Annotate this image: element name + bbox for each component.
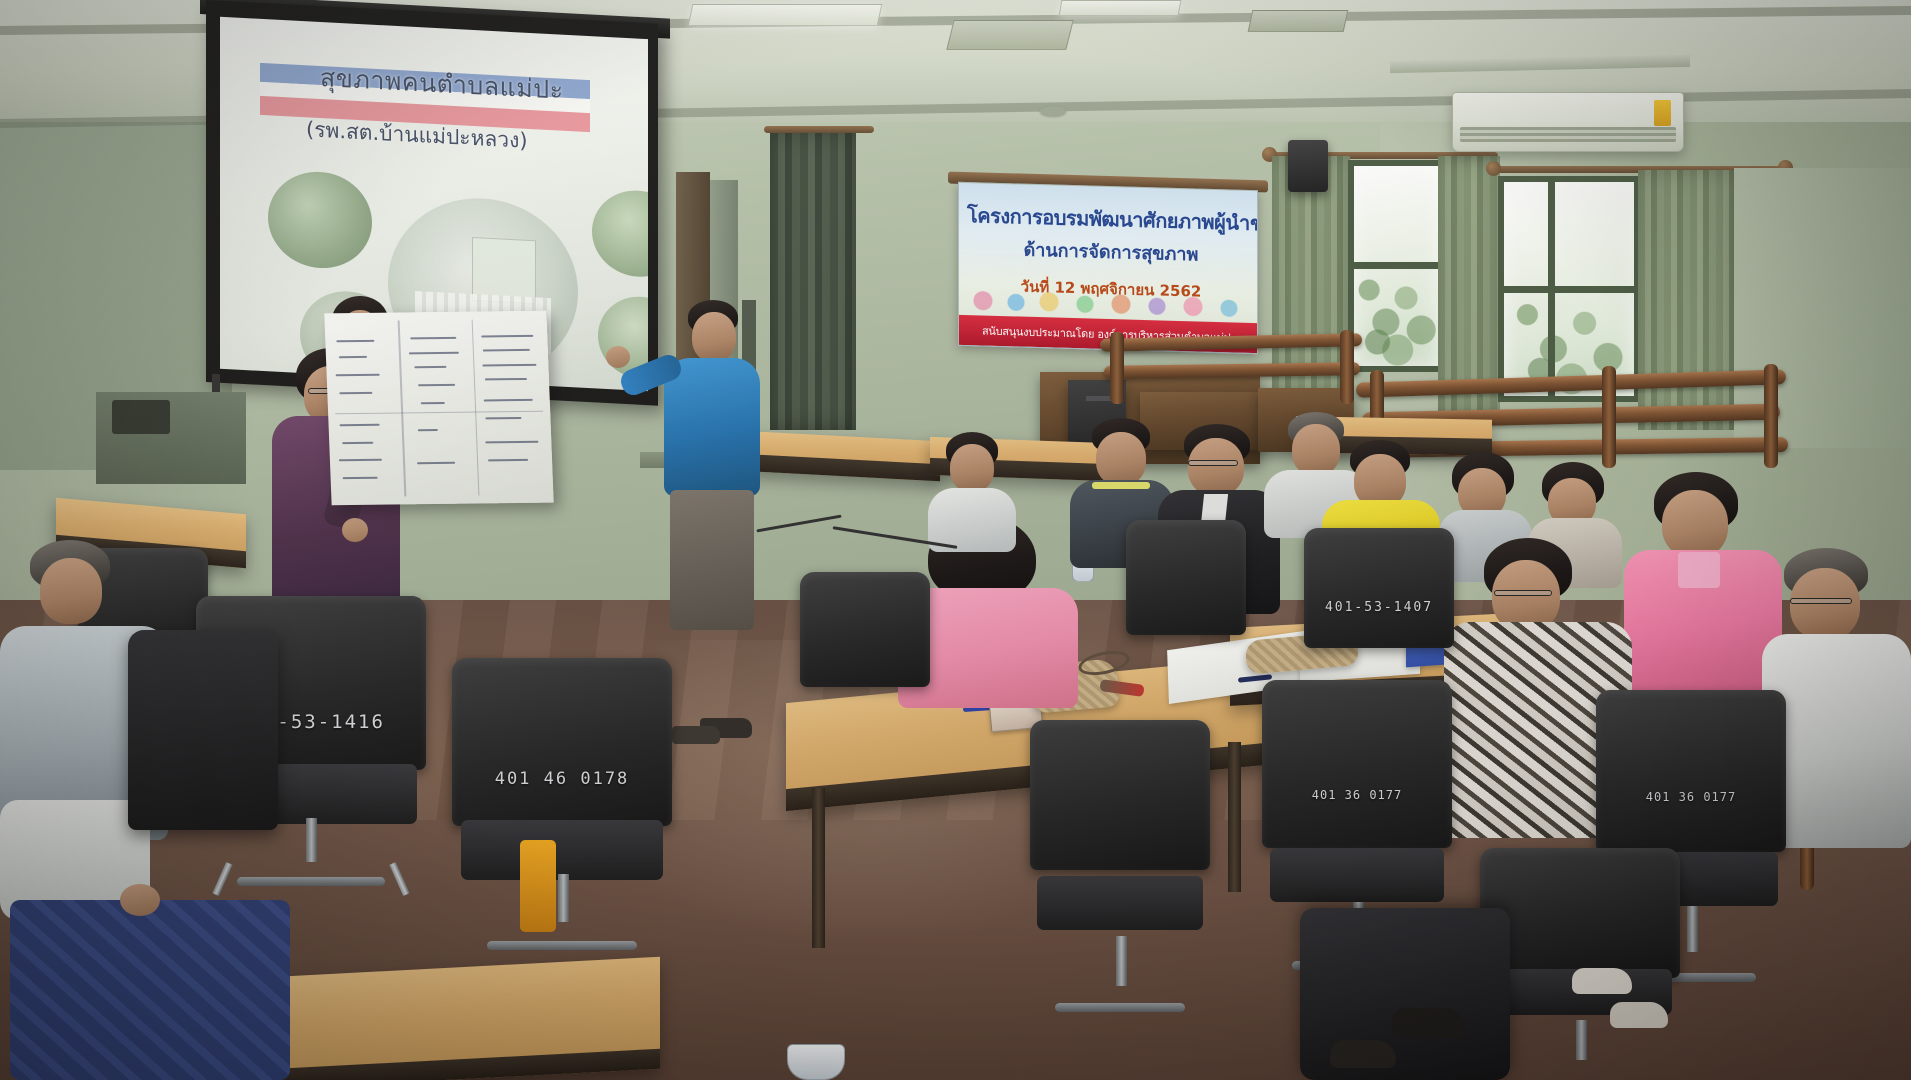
banner-line-1: โครงการอบรมพัฒนาศักยภาพผู้นำชุมชน xyxy=(967,199,1255,239)
curtain-rod-center xyxy=(764,126,874,133)
trousers xyxy=(670,490,754,630)
chair-backrest: 401 36 0177 xyxy=(1262,680,1452,848)
ceiling-light xyxy=(1059,0,1182,16)
ac-sticker xyxy=(1654,100,1671,126)
chair-base xyxy=(487,941,637,950)
head xyxy=(950,444,994,492)
head xyxy=(1662,490,1728,558)
curtain-finial xyxy=(1486,161,1501,176)
bamboo-post xyxy=(1602,366,1616,468)
head xyxy=(1790,568,1860,640)
chair-label: 401 46 0178 xyxy=(495,769,630,789)
window-mullion xyxy=(1504,286,1634,293)
glasses xyxy=(1188,460,1238,466)
chair-pole xyxy=(558,874,569,922)
chair-backrest: 401 46 0178 xyxy=(452,658,672,826)
ceiling-vent xyxy=(1248,10,1349,32)
chair-label: 401-53-1407 xyxy=(1325,600,1433,615)
head xyxy=(40,558,102,624)
flipchart-column-3 xyxy=(478,328,551,490)
hand xyxy=(120,884,160,916)
person-woman-pink-polo-right xyxy=(1624,472,1784,702)
chair-leg xyxy=(389,862,409,896)
glass-foreground[interactable] xyxy=(787,1044,845,1080)
meeting-room-photo: สุขภาพคนตำบลแม่ปะ (รพ.สต.บ้านแม่ปะหลวง) … xyxy=(0,0,1911,1080)
torso-blue-polo xyxy=(664,358,760,496)
chair-pole xyxy=(1576,1020,1587,1060)
glasses xyxy=(1494,590,1552,596)
glasses xyxy=(1790,598,1852,604)
window-mullion xyxy=(1354,262,1438,269)
chair-seat xyxy=(1037,876,1203,930)
flipchart-paper[interactable] xyxy=(324,311,553,506)
chair-base xyxy=(1055,1003,1185,1012)
bamboo-post xyxy=(1340,330,1354,404)
chair-seat xyxy=(1270,848,1445,902)
collar xyxy=(1678,552,1720,588)
ac-vent xyxy=(1460,127,1676,142)
head xyxy=(1188,438,1244,496)
hand xyxy=(606,346,630,368)
ceiling-light xyxy=(688,4,883,26)
smoke-detector xyxy=(1040,106,1066,116)
bamboo-post xyxy=(1110,332,1124,404)
chair-left-second[interactable]: 401 46 0178 xyxy=(452,658,672,958)
person-woman-floral-skirt xyxy=(0,800,300,1080)
chair-pole xyxy=(1687,906,1698,952)
head xyxy=(1096,432,1146,486)
shoe xyxy=(1330,1040,1396,1068)
chair-backrest: 401 36 0177 xyxy=(1596,690,1786,852)
banner-illustration-figures xyxy=(959,275,1258,319)
flipchart-column-1 xyxy=(332,330,405,492)
bamboo-rail xyxy=(1356,369,1786,397)
collar-stripe xyxy=(1092,482,1150,489)
chair-center-behind-pink[interactable] xyxy=(800,572,930,732)
chair-foreground-left[interactable] xyxy=(128,630,278,830)
hand xyxy=(342,518,368,542)
chair-backrest xyxy=(1126,520,1246,635)
chair-backrest xyxy=(1030,720,1210,870)
slide-photo-bubble-forest xyxy=(268,169,372,270)
orange-object xyxy=(520,840,556,932)
sandal xyxy=(1610,1002,1668,1028)
chair-backrest: 401-53-1407 xyxy=(1304,528,1454,648)
head xyxy=(692,312,736,362)
chair-right-back-1[interactable] xyxy=(1126,520,1246,700)
chair-foreground-center[interactable] xyxy=(1030,720,1210,1020)
bamboo-post xyxy=(1764,364,1778,468)
person-man-blue-shirt xyxy=(662,300,762,630)
chair-pole xyxy=(1116,936,1127,986)
air-conditioner xyxy=(1452,92,1684,152)
flipchart-column-2 xyxy=(405,329,478,491)
chair-label: 401 36 0177 xyxy=(1646,790,1736,804)
curtain-dark-center xyxy=(770,130,856,430)
wall-speaker xyxy=(1288,140,1328,192)
chair-backrest xyxy=(800,572,930,687)
slide-photo-bubble-field xyxy=(592,188,648,279)
shoe-right xyxy=(672,726,720,744)
chair-bottom-right[interactable] xyxy=(1480,848,1680,1080)
chair-seat xyxy=(461,820,663,880)
bamboo-rail xyxy=(1104,362,1360,379)
floral-skirt xyxy=(10,900,290,1080)
wall-outlet xyxy=(112,400,170,434)
chair-backrest xyxy=(1480,848,1680,978)
table-leg xyxy=(1228,742,1241,892)
ceiling-vent xyxy=(946,20,1073,50)
shoe xyxy=(1392,1008,1464,1038)
sandal xyxy=(1572,968,1632,994)
table-leg xyxy=(812,788,825,948)
chair-pole xyxy=(306,818,317,862)
person-young-man-gray xyxy=(928,432,1018,552)
bamboo-rail xyxy=(1100,333,1362,351)
chair-label: 401 36 0177 xyxy=(1312,788,1402,802)
banner-line-2: ด้านการจัดการสุขภาพ xyxy=(967,233,1255,270)
